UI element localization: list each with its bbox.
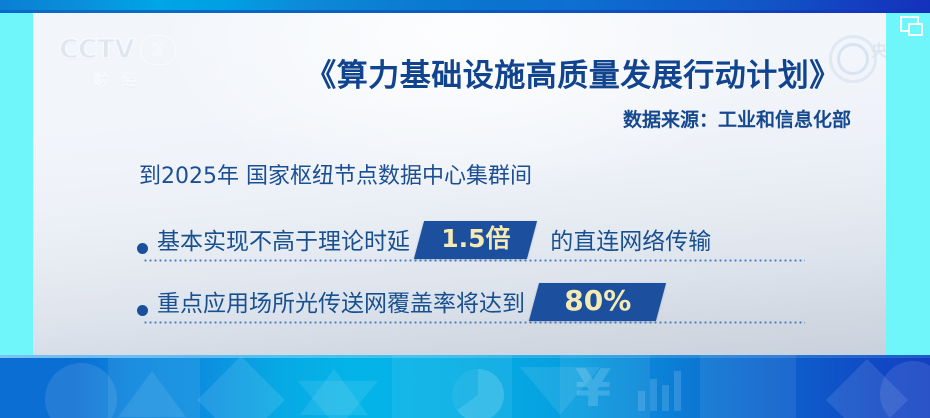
bullet-dot-icon bbox=[137, 305, 148, 316]
bullet-dotted-rule bbox=[143, 259, 805, 262]
decor-triangle-down bbox=[520, 367, 600, 415]
left-cyan-rail bbox=[0, 13, 33, 355]
decor-pie-chart bbox=[452, 369, 504, 418]
decor-triangle bbox=[118, 371, 186, 417]
decor-yen-symbol: ¥ bbox=[575, 363, 611, 415]
ghost-watermark-text: 央视 bbox=[871, 43, 886, 59]
right-cyan-rail bbox=[886, 13, 930, 355]
decor-rect bbox=[392, 355, 512, 418]
data-source-label: 数据来源：工业和信息化部 bbox=[273, 105, 851, 132]
bottom-decorative-band: ¥ bbox=[0, 355, 930, 418]
bullet-dotted-rule bbox=[143, 321, 805, 324]
cctv-wordmark: CCTV bbox=[59, 35, 134, 65]
bullet-text-suffix: 的直连网络传输 bbox=[541, 222, 711, 258]
cctv2-logo: CCTV 2 财经 bbox=[59, 35, 219, 97]
decor-circle bbox=[45, 363, 117, 418]
lead-statement: 到2025年 国家枢纽节点数据中心集群间 bbox=[139, 158, 532, 190]
decor-circle bbox=[880, 361, 930, 418]
bullet-text-prefix: 基本实现不高于理论时延 bbox=[148, 222, 410, 258]
cctv-channel-number: 2 bbox=[140, 35, 176, 65]
decor-triangle bbox=[300, 369, 368, 415]
content-panel: CCTV 2 财经 央视 《算力基础设施高质量发展行动计划》 数据来源：工业和信… bbox=[33, 13, 886, 355]
decor-diamond bbox=[197, 356, 285, 418]
broadcast-screen: CCTV 2 财经 央视 《算力基础设施高质量发展行动计划》 数据来源：工业和信… bbox=[0, 0, 930, 418]
decor-triangle-down bbox=[298, 381, 378, 418]
bullet-text-suffix bbox=[670, 301, 679, 303]
list-item: 基本实现不高于理论时延 1.5倍 的直连网络传输 bbox=[137, 221, 711, 259]
decor-diamond bbox=[826, 359, 908, 418]
badge-value: 1.5倍 bbox=[441, 224, 510, 254]
cctv-channel-name: 财经 bbox=[93, 69, 219, 90]
list-item: 重点应用场所光传送网覆盖率将达到 80% bbox=[137, 283, 679, 321]
bullet-dot-icon bbox=[137, 243, 148, 254]
badge-value: 80% bbox=[564, 286, 631, 316]
status-badge: 80% bbox=[529, 283, 666, 321]
bullet-text-prefix: 重点应用场所光传送网覆盖率将达到 bbox=[148, 284, 525, 320]
decor-bar-chart bbox=[638, 367, 681, 411]
page-title: 《算力基础设施高质量发展行动计划》 bbox=[273, 50, 873, 95]
picture-in-picture-icon[interactable] bbox=[900, 16, 922, 36]
decor-rect bbox=[700, 355, 796, 418]
status-badge: 1.5倍 bbox=[414, 221, 537, 259]
band-highlight-line bbox=[0, 355, 930, 358]
pip-inner-rect bbox=[908, 23, 923, 36]
cctv-logo-row: CCTV 2 bbox=[59, 35, 219, 65]
decor-rect bbox=[108, 358, 200, 418]
decor-rect bbox=[560, 355, 650, 418]
